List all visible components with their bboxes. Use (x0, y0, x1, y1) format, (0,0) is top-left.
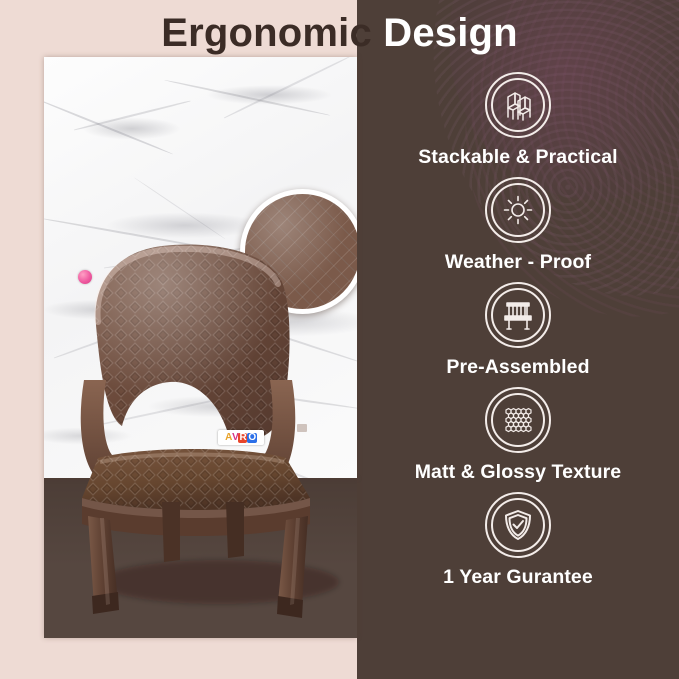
pink-sticker-dot (78, 270, 92, 284)
infographic-canvas: Ergonomic Design (0, 0, 679, 679)
feature-label-weather-proof: Weather - Proof (357, 250, 679, 274)
product-chair-image (44, 230, 357, 620)
brand-letter-r: R (238, 433, 247, 443)
feature-label-guarantee: 1 Year Gurantee (357, 565, 679, 589)
feature-item-pre-assembled: Pre-Assembled (357, 282, 679, 379)
feature-list: Stackable & Practical Weather - Proof (357, 72, 679, 597)
honeycomb-texture-icon (485, 387, 551, 453)
feature-label-pre-assembled: Pre-Assembled (357, 355, 679, 379)
feature-item-texture: Matt & Glossy Texture (357, 387, 679, 484)
brand-letter-o: O (247, 433, 256, 443)
brand-sticker: AVRO (218, 430, 264, 445)
stacked-chairs-icon (485, 72, 551, 138)
small-label-tag (297, 424, 307, 432)
sun-icon (485, 177, 551, 243)
feature-item-weather-proof: Weather - Proof (357, 177, 679, 274)
feature-item-stackable: Stackable & Practical (357, 72, 679, 169)
brand-letter-a: A (225, 433, 232, 443)
feature-item-guarantee: 1 Year Gurantee (357, 492, 679, 589)
chair-icon (485, 282, 551, 348)
feature-label-stackable: Stackable & Practical (357, 145, 679, 169)
shield-check-icon (485, 492, 551, 558)
feature-label-texture: Matt & Glossy Texture (357, 460, 679, 484)
